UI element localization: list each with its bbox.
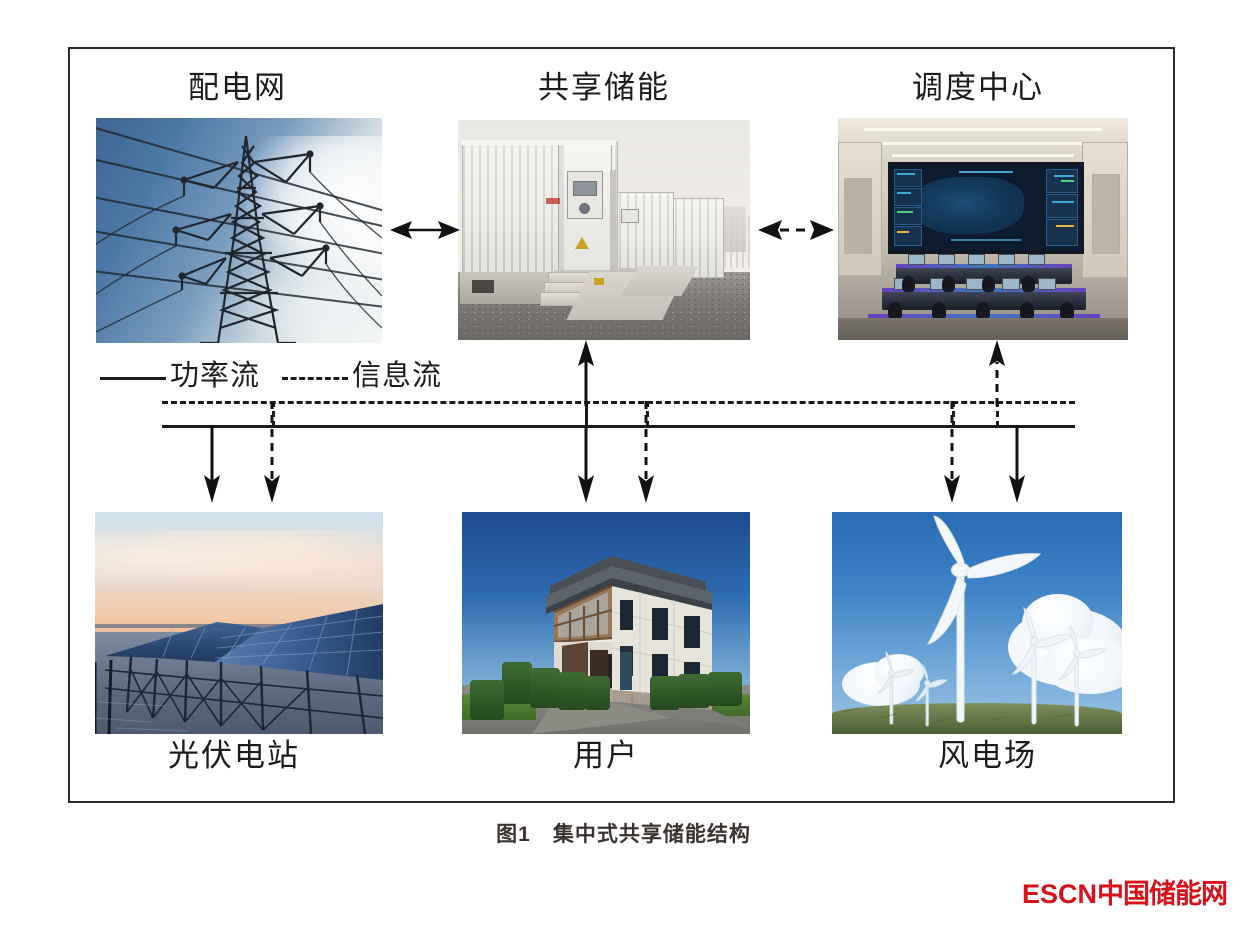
dashed-up-arrow-to-dispatch [983,340,1011,406]
solid-down-arrow-to-user [572,425,600,503]
pylon-illustration [96,118,382,343]
dashed-down-arrow-to-wind [938,401,966,503]
node-label-distribution-network: 配电网 [188,72,287,103]
solar-farm-photo [95,512,383,734]
residential-house-photo [462,512,750,734]
solid-down-arrow-to-pv [198,425,226,503]
video-wall [888,162,1084,254]
node-label-wind-farm: 风电场 [938,740,1037,771]
node-label-dispatch-center: 调度中心 [912,72,1044,103]
legend: 功率流信息流 [100,352,442,394]
solar-array-illustration [95,512,383,734]
watermark-site: 中国储能网 [1097,879,1227,909]
bidirectional-dashed-arrow-storage-dispatch [758,212,834,248]
dashed-down-arrow-to-user [632,401,660,503]
transmission-tower-photo [96,118,382,343]
watermark-brand: ESCN [1022,879,1097,909]
legend-solid-line-icon [100,377,166,380]
node-label-user: 用户 [573,740,639,771]
wind-turbine-illustration [832,512,1122,734]
legend-information-flow-label: 信息流 [352,360,442,392]
legend-power-flow-label: 功率流 [170,360,260,392]
solid-down-arrow-to-wind [1003,425,1031,503]
control-room-photo [838,118,1128,340]
legend-dashed-line-icon [282,377,348,380]
wind-turbines-photo [832,512,1122,734]
node-label-shared-energy-storage: 共享储能 [538,72,670,103]
node-label-pv-plant: 光伏电站 [168,740,300,771]
dashed-down-arrow-to-pv [258,401,286,503]
battery-container-photo [458,120,750,340]
solid-up-arrow-to-storage [572,340,600,406]
figure-caption: 图1 集中式共享储能结构 [0,818,1247,848]
escn-watermark: ESCN中国储能网 [1022,872,1227,911]
bidirectional-solid-arrow-grid-storage [390,212,460,248]
